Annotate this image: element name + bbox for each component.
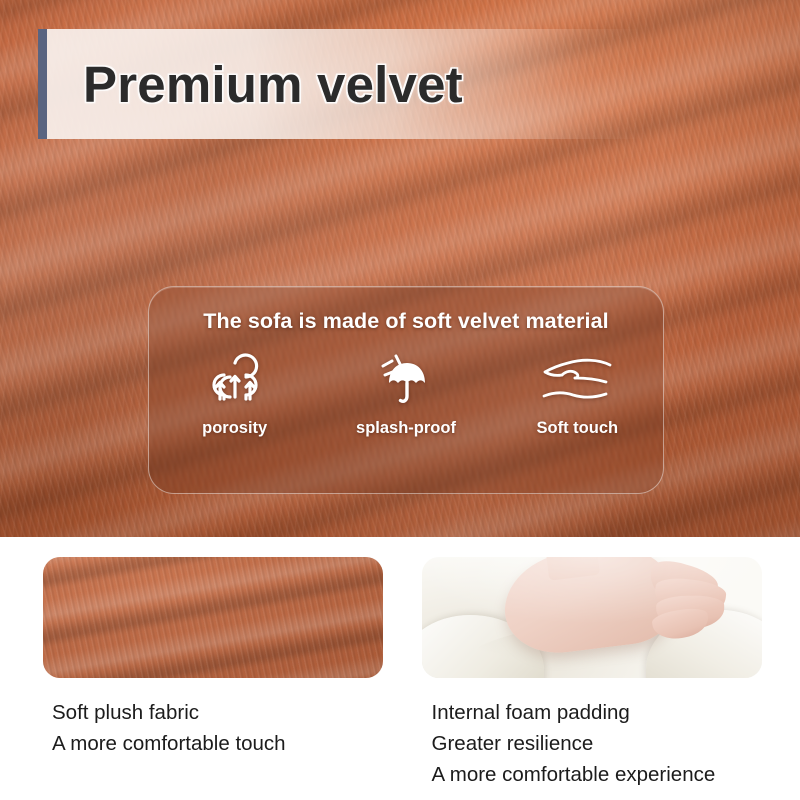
feature-card: The sofa is made of soft velvet material bbox=[148, 286, 664, 494]
bottom-section: Soft plush fabric A more comfortable tou… bbox=[0, 537, 800, 800]
porosity-clouds-arrows-icon bbox=[206, 348, 264, 410]
page-title: Premium velvet bbox=[83, 55, 463, 114]
title-banner-sheet: Premium velvet bbox=[47, 29, 644, 139]
foam-photo-highlight bbox=[422, 557, 762, 678]
feature-label-porosity: porosity bbox=[202, 419, 267, 438]
caption-line: Soft plush fabric bbox=[52, 697, 411, 728]
feature-list: porosity splash-proof bbox=[149, 348, 663, 438]
panel-internal-foam-padding bbox=[422, 557, 762, 678]
hand-pressing-foam-photo bbox=[422, 557, 762, 678]
hand-wave-soft-touch-icon bbox=[540, 348, 614, 410]
caption-line: A more comfortable touch bbox=[52, 728, 411, 759]
caption-internal-foam-padding: Internal foam padding Greater resilience… bbox=[432, 697, 800, 790]
feature-label-splash-proof: splash-proof bbox=[356, 419, 456, 438]
feature-card-heading: The sofa is made of soft velvet material bbox=[203, 309, 608, 334]
title-banner: Premium velvet bbox=[38, 29, 644, 139]
photo-panels bbox=[0, 557, 800, 678]
feature-item-soft-touch: Soft touch bbox=[502, 348, 652, 438]
umbrella-rain-icon bbox=[376, 348, 436, 410]
title-accent-bar bbox=[38, 29, 47, 139]
feature-item-splash-proof: splash-proof bbox=[331, 348, 481, 438]
caption-soft-plush-fabric: Soft plush fabric A more comfortable tou… bbox=[52, 697, 411, 790]
feature-label-soft-touch: Soft touch bbox=[537, 419, 619, 438]
caption-line: Greater resilience bbox=[432, 728, 800, 759]
caption-line: A more comfortable experience bbox=[432, 759, 800, 790]
fabric-photo-fibers bbox=[43, 557, 383, 678]
hero-section: Premium velvet The sofa is made of soft … bbox=[0, 0, 800, 537]
velvet-fabric-closeup-photo bbox=[43, 557, 383, 678]
caption-line: Internal foam padding bbox=[432, 697, 800, 728]
feature-item-porosity: porosity bbox=[160, 348, 310, 438]
panel-soft-plush-fabric bbox=[43, 557, 383, 678]
panel-captions: Soft plush fabric A more comfortable tou… bbox=[0, 697, 800, 790]
